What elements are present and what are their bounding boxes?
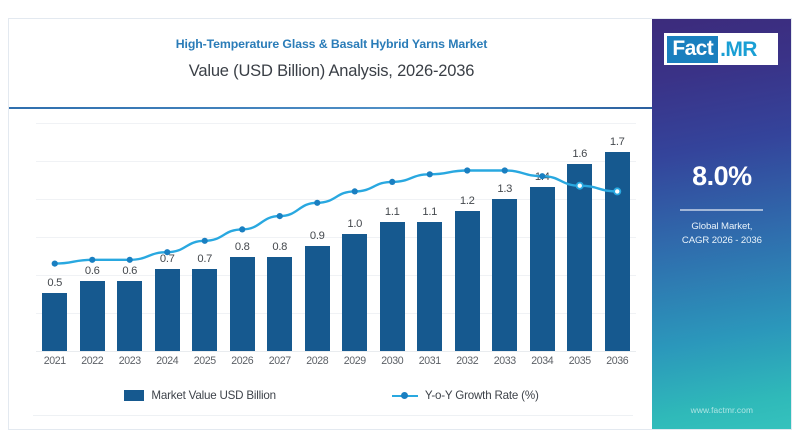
bar (267, 257, 292, 351)
brand-panel: Fact .MR 8.0% Global Market, CAGR 2026 -… (652, 19, 791, 429)
bar (605, 152, 630, 351)
bar-column: 1.1 (411, 123, 449, 351)
chart-legend: Market Value USD Billion Y-o-Y Growth Ra… (9, 389, 654, 402)
x-axis-tick: 2021 (36, 355, 74, 367)
legend-divider (33, 415, 633, 416)
bar-column: 0.7 (186, 123, 224, 351)
logo-text-fact: Fact (667, 36, 718, 63)
bar-column: 0.8 (261, 123, 299, 351)
chart-header: High-Temperature Glass & Basalt Hybrid Y… (9, 19, 654, 107)
bar-value-label: 1.1 (411, 206, 449, 218)
x-axis-tick: 2027 (261, 355, 299, 367)
bar-swatch-icon (124, 390, 144, 401)
bar-series: 0.50.60.60.70.70.80.80.91.01.11.11.21.31… (36, 123, 636, 351)
chart-area: High-Temperature Glass & Basalt Hybrid Y… (9, 19, 652, 429)
x-axis-tick: 2035 (561, 355, 599, 367)
bar (455, 211, 480, 351)
bar-value-label: 0.5 (36, 277, 74, 289)
bar (305, 246, 330, 351)
bar-column: 0.8 (224, 123, 262, 351)
bar-value-label: 1.7 (599, 136, 637, 148)
bar-column: 1.1 (374, 123, 412, 351)
bar-column: 0.7 (149, 123, 187, 351)
bar-column: 0.6 (74, 123, 112, 351)
x-axis-line (36, 351, 636, 352)
chart-subtitle: Value (USD Billion) Analysis, 2026-2036 (9, 62, 654, 81)
bar-value-label: 1.3 (486, 183, 524, 195)
cagr-value: 8.0% (652, 161, 791, 192)
cagr-divider (680, 209, 763, 211)
bar-value-label: 0.8 (261, 241, 299, 253)
x-axis-tick: 2034 (524, 355, 562, 367)
bar-column: 1.0 (336, 123, 374, 351)
x-axis-tick: 2032 (449, 355, 487, 367)
legend-item-growth-rate[interactable]: Y-o-Y Growth Rate (%) (392, 389, 539, 402)
x-axis-tick: 2025 (186, 355, 224, 367)
bar-column: 1.2 (449, 123, 487, 351)
legend-label-growth-rate: Y-o-Y Growth Rate (%) (425, 389, 539, 402)
bar-column: 0.5 (36, 123, 74, 351)
x-axis-tick: 2028 (299, 355, 337, 367)
bar (192, 269, 217, 351)
cagr-caption-line-1: Global Market, (652, 220, 791, 234)
website-url: www.factmr.com (652, 405, 791, 415)
bar-column: 0.9 (299, 123, 337, 351)
bar-column: 1.7 (599, 123, 637, 351)
screenshot-root: High-Temperature Glass & Basalt Hybrid Y… (0, 0, 800, 448)
bar-value-label: 1.1 (374, 206, 412, 218)
bar (567, 164, 592, 351)
bar (230, 257, 255, 351)
legend-item-market-value[interactable]: Market Value USD Billion (124, 389, 276, 402)
line-swatch-icon (392, 391, 418, 401)
bar-value-label: 0.8 (224, 241, 262, 253)
x-axis-tick: 2033 (486, 355, 524, 367)
factmr-logo[interactable]: Fact .MR (664, 33, 778, 65)
x-axis-tick: 2022 (74, 355, 112, 367)
bar-value-label: 0.6 (111, 265, 149, 277)
x-axis-tick: 2030 (374, 355, 412, 367)
bar-value-label: 1.2 (449, 195, 487, 207)
x-axis-tick-labels: 2021202220232024202520262027202820292030… (36, 355, 636, 367)
header-divider (9, 107, 654, 109)
bar (117, 281, 142, 351)
logo-text-mr: .MR (718, 37, 757, 62)
bar-value-label: 1.6 (561, 148, 599, 160)
bar (417, 222, 442, 351)
bar-value-label: 0.7 (149, 253, 187, 265)
chart-title: High-Temperature Glass & Basalt Hybrid Y… (9, 37, 654, 51)
bar-value-label: 1.4 (524, 171, 562, 183)
chart-card: High-Temperature Glass & Basalt Hybrid Y… (8, 18, 792, 430)
plot-area: 0.50.60.60.70.70.80.80.91.01.11.11.21.31… (36, 123, 636, 351)
bar-value-label: 1.0 (336, 218, 374, 230)
bar (42, 293, 67, 351)
bar-column: 1.6 (561, 123, 599, 351)
bar (492, 199, 517, 351)
x-axis-tick: 2029 (336, 355, 374, 367)
bar-column: 0.6 (111, 123, 149, 351)
bar (380, 222, 405, 351)
cagr-caption: Global Market, CAGR 2026 - 2036 (652, 220, 791, 248)
bar-value-label: 0.7 (186, 253, 224, 265)
cagr-caption-line-2: CAGR 2026 - 2036 (652, 234, 791, 248)
bar-column: 1.3 (486, 123, 524, 351)
bar (530, 187, 555, 351)
bar (155, 269, 180, 351)
x-axis-tick: 2023 (111, 355, 149, 367)
legend-label-market-value: Market Value USD Billion (151, 389, 276, 402)
x-axis-tick: 2024 (149, 355, 187, 367)
bar-value-label: 0.6 (74, 265, 112, 277)
bar-column: 1.4 (524, 123, 562, 351)
bar (80, 281, 105, 351)
bar (342, 234, 367, 351)
x-axis-tick: 2031 (411, 355, 449, 367)
bar-value-label: 0.9 (299, 230, 337, 242)
x-axis-tick: 2036 (599, 355, 637, 367)
x-axis-tick: 2026 (224, 355, 262, 367)
